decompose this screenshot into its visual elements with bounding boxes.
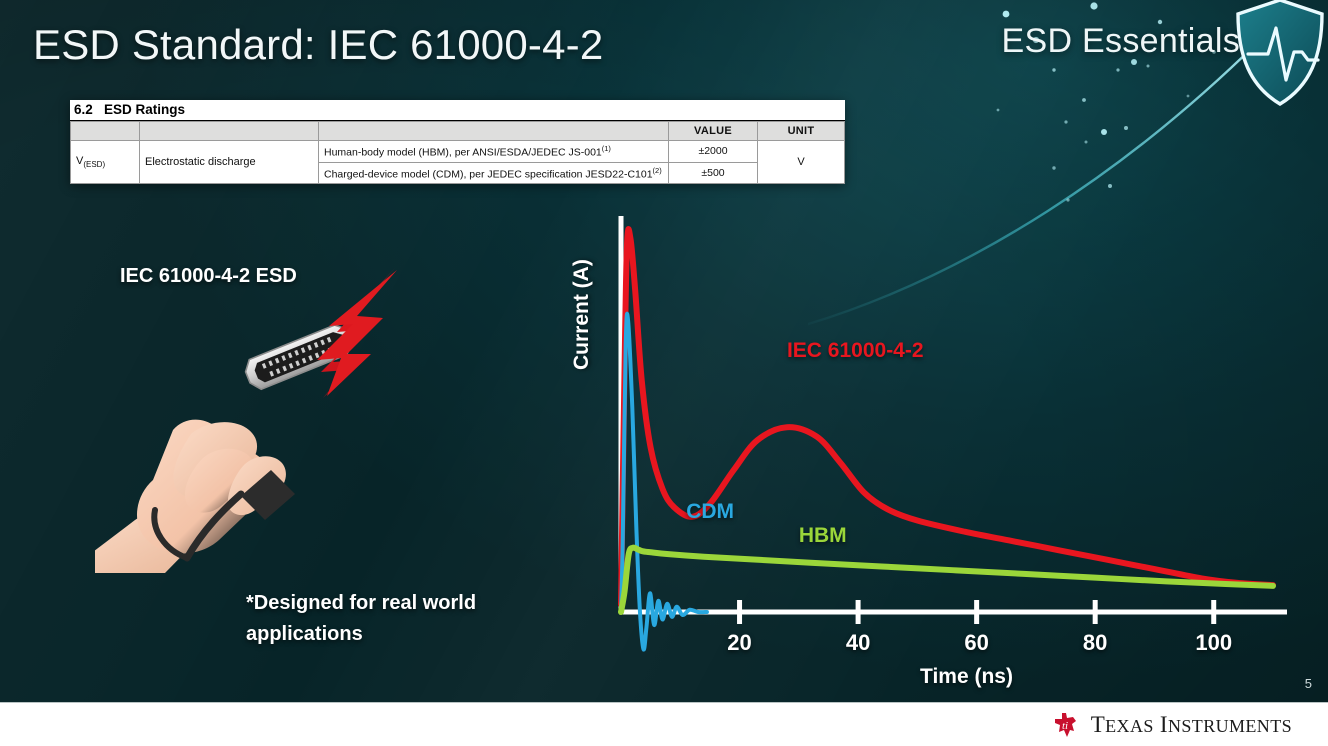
esd-waveform-chart xyxy=(565,198,1305,698)
cell-parameter: Electrostatic discharge xyxy=(140,141,319,184)
x-tick-label: 60 xyxy=(964,630,988,656)
curve-label-iec-61000-4-2: IEC 61000-4-2 xyxy=(787,339,924,363)
chart-axes xyxy=(619,216,1287,624)
x-tick-label: 80 xyxy=(1083,630,1107,656)
cell-unit: V xyxy=(758,141,845,184)
table-header-row: VALUE UNIT xyxy=(71,122,845,141)
chart-series-iec-61000-4-2 xyxy=(621,229,1273,605)
x-tick-label: 40 xyxy=(846,630,870,656)
hand-connector-illustration xyxy=(95,258,435,573)
header-blank-condition xyxy=(319,122,669,141)
x-tick-label: 100 xyxy=(1195,630,1232,656)
cell-value-hbm: ±2000 xyxy=(669,141,758,163)
condition-cdm-text: Charged-device model (CDM), per JEDEC sp… xyxy=(324,168,653,180)
cell-condition-cdm: Charged-device model (CDM), per JEDEC sp… xyxy=(319,162,669,184)
header-unit: UNIT xyxy=(758,122,845,141)
chart-series-group xyxy=(621,229,1273,650)
ti-word2-rest: NSTRUMENTS xyxy=(1168,716,1292,736)
slide-footer: ti TEXAS INSTRUMENTS xyxy=(0,702,1328,746)
ti-wordmark: TEXAS INSTRUMENTS xyxy=(1091,712,1292,738)
texas-instruments-logo: ti TEXAS INSTRUMENTS xyxy=(1051,710,1292,740)
cell-value-cdm: ±500 xyxy=(669,162,758,184)
ti-word1-rest: EXAS xyxy=(1105,716,1154,736)
header-value: VALUE xyxy=(669,122,758,141)
curve-label-hbm: HBM xyxy=(799,524,847,548)
chart-series-cdm xyxy=(621,314,707,650)
table-row: V(ESD) Electrostatic discharge Human-bod… xyxy=(71,141,845,163)
ti-texas-mark-icon: ti xyxy=(1051,710,1081,740)
condition-hbm-text: Human-body model (HBM), per ANSI/ESDA/JE… xyxy=(324,147,602,159)
design-note: *Designed for real world applications xyxy=(246,588,576,650)
table-section-title: 6.2ESD Ratings xyxy=(70,100,845,121)
page-title: ESD Standard: IEC 61000-4-2 xyxy=(33,21,603,69)
esd-ratings-table: 6.2ESD Ratings VALUE UNIT V(ESD) Electro… xyxy=(70,100,845,184)
table-section-number: 6.2 xyxy=(74,102,104,117)
symbol-sub: (ESD) xyxy=(83,160,105,169)
header-blank-symbol xyxy=(71,122,140,141)
curve-label-cdm: CDM xyxy=(686,500,734,524)
table-section-name: ESD Ratings xyxy=(104,102,185,117)
ti-word2-cap: I xyxy=(1160,712,1168,737)
svg-text:ti: ti xyxy=(1062,720,1068,732)
ti-word1-cap: T xyxy=(1091,712,1105,737)
slide-canvas: ESD Standard: IEC 61000-4-2 ESD Essentia… xyxy=(0,0,1328,746)
footnote-1: (1) xyxy=(602,144,611,153)
chart-series-hbm xyxy=(621,548,1273,612)
shield-pulse-icon xyxy=(1232,0,1328,112)
page-number: 5 xyxy=(1305,676,1312,691)
cell-condition-hbm: Human-body model (HBM), per ANSI/ESDA/JE… xyxy=(319,141,669,163)
chart-x-axis-label: Time (ns) xyxy=(920,665,1013,689)
x-tick-label: 20 xyxy=(727,630,751,656)
header-blank-parameter xyxy=(140,122,319,141)
cell-symbol: V(ESD) xyxy=(71,141,140,184)
footnote-2: (2) xyxy=(653,166,662,175)
brand-label: ESD Essentials xyxy=(1001,22,1240,61)
